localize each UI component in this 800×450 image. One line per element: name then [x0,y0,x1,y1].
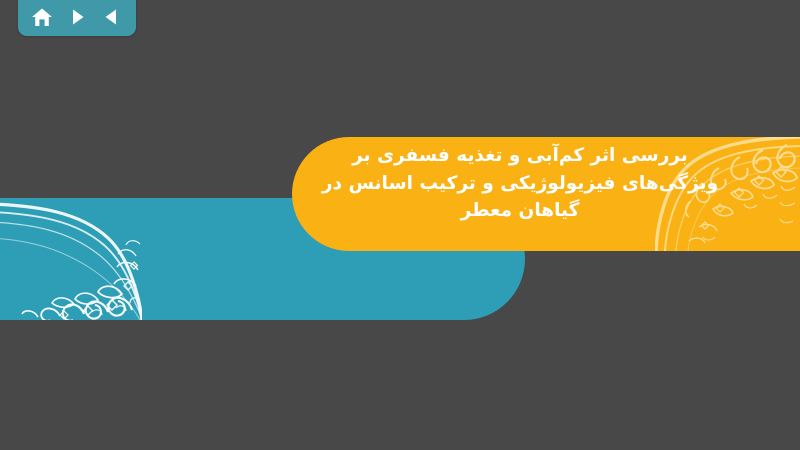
presentation-slide: بررسی اثر کم‌آبی و تغذیه فسفری بر ویژگی‌… [0,0,800,450]
title-line-1: بررسی اثر کم‌آبی و تغذیه فسفری بر [300,142,740,170]
triangle-right-icon [67,7,87,27]
home-slide-button[interactable] [27,3,57,31]
title-line-2: ویژگی‌های فیزیولوژیکی و ترکیب اسانس در [300,170,740,198]
home-icon [31,7,53,28]
next-slide-button[interactable] [62,3,92,31]
slide-navigation-toolbar[interactable] [18,0,136,36]
slide-title: بررسی اثر کم‌آبی و تغذیه فسفری بر ویژگی‌… [0,142,800,225]
previous-slide-button[interactable] [97,3,127,31]
triangle-left-icon [102,7,122,27]
title-line-3: گیاهان معطر [300,197,740,225]
